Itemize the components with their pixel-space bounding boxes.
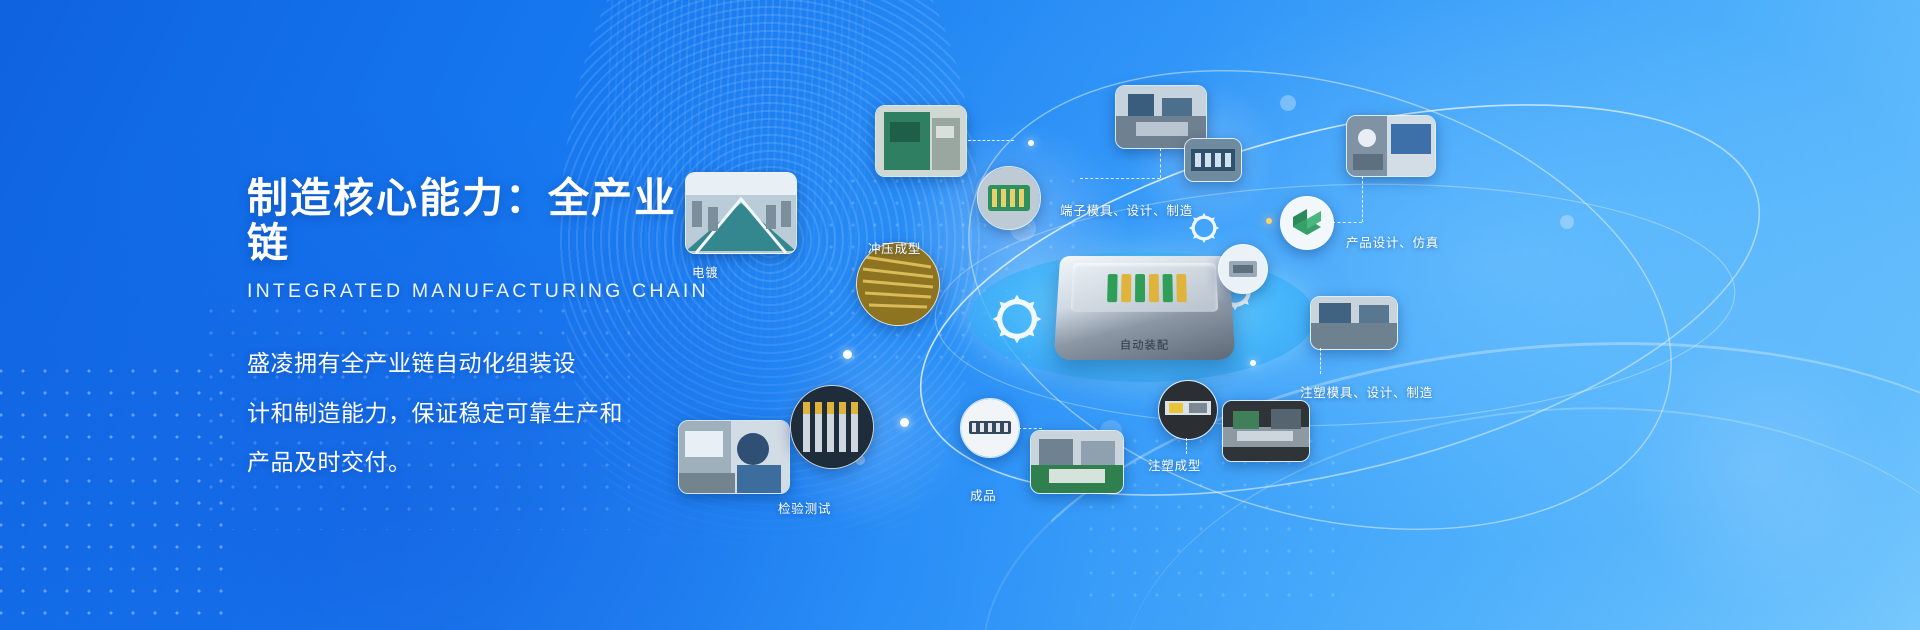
terminal-mold-part-photo[interactable] xyxy=(1184,138,1242,182)
stamped-part-photo[interactable] xyxy=(977,166,1041,230)
stamping-machine-photo[interactable] xyxy=(875,105,967,177)
description-line-3: 产品及时交付。 xyxy=(247,444,717,480)
component-gold xyxy=(1176,274,1187,302)
node-label-inspection: 检验测试 xyxy=(778,498,831,517)
assembly-line-photo[interactable] xyxy=(1030,430,1124,494)
injection-forming-line-photo[interactable] xyxy=(1222,400,1310,462)
node-label-stamping: 冲压成型 xyxy=(868,238,921,257)
machine-label: 自动装配 xyxy=(1054,336,1235,352)
orbit-node-dot xyxy=(1266,218,1272,224)
product-3d-model-icon[interactable] xyxy=(1280,196,1334,250)
component-green xyxy=(1163,274,1173,302)
node-label-injection-forming: 注塑成型 xyxy=(1148,455,1201,474)
connector-dashed xyxy=(1160,148,1161,178)
connector-dashed xyxy=(1080,178,1160,179)
connector-dashed xyxy=(1332,222,1362,223)
node-label-terminal-mold: 端子模具、设计、制造 xyxy=(1060,200,1193,219)
connector-dashed xyxy=(1186,438,1187,454)
orbit-node-dot xyxy=(900,418,909,427)
connector-dashed xyxy=(1362,176,1363,222)
gear-icon xyxy=(988,290,1046,348)
description-line-1: 盛凌拥有全产业链自动化组装设 xyxy=(247,345,717,381)
injection-molding-machine-photo[interactable] xyxy=(1158,380,1218,440)
description-line-2: 计和制造能力，保证稳定可靠生产和 xyxy=(247,395,717,431)
connector-dashed xyxy=(1320,348,1321,374)
injection-mold-part-icon[interactable] xyxy=(1218,244,1268,294)
component-gold xyxy=(1121,274,1131,302)
orbit-node-dot xyxy=(843,350,852,359)
product-design-cad-photo[interactable] xyxy=(1346,115,1436,177)
manufacturing-chain-diagram: 自动装配 电镀 冲压成型 xyxy=(780,0,1920,630)
component-green xyxy=(1107,274,1118,302)
connector-dashed xyxy=(968,140,1014,141)
banner-description: 盛凌拥有全产业链自动化组装设 计和制造能力，保证稳定可靠生产和 产品及时交付。 xyxy=(247,345,717,480)
orbit-node-dot xyxy=(1250,360,1256,366)
node-label-finished-product: 成品 xyxy=(970,485,997,504)
electroplating-line-photo[interactable] xyxy=(685,172,797,254)
page-subtitle: INTEGRATED MANUFACTURING CHAIN xyxy=(247,280,717,303)
machine-housing xyxy=(1071,263,1219,312)
manufacturing-capability-banner: 制造核心能力：全产业链 INTEGRATED MANUFACTURING CHA… xyxy=(0,0,1920,630)
finished-connector-photo[interactable] xyxy=(960,398,1020,458)
orbit-node-dot xyxy=(1028,140,1034,146)
connector-dashed xyxy=(1018,428,1042,429)
page-title: 制造核心能力：全产业链 xyxy=(247,176,717,266)
component-gold xyxy=(1149,274,1159,302)
node-label-injection-mold: 注塑模具、设计、制造 xyxy=(1300,382,1433,401)
test-fixture-photo[interactable] xyxy=(790,385,874,469)
injection-mold-workshop-photo[interactable] xyxy=(1310,296,1398,350)
component-green xyxy=(1135,274,1145,302)
node-label-plating: 电镀 xyxy=(692,262,719,281)
inspection-lab-photo[interactable] xyxy=(678,420,790,494)
automatic-assembly-machine: 自动装配 xyxy=(1054,256,1236,360)
node-label-product-design: 产品设计、仿真 xyxy=(1346,232,1439,251)
banner-copy: 制造核心能力：全产业链 INTEGRATED MANUFACTURING CHA… xyxy=(247,176,717,493)
